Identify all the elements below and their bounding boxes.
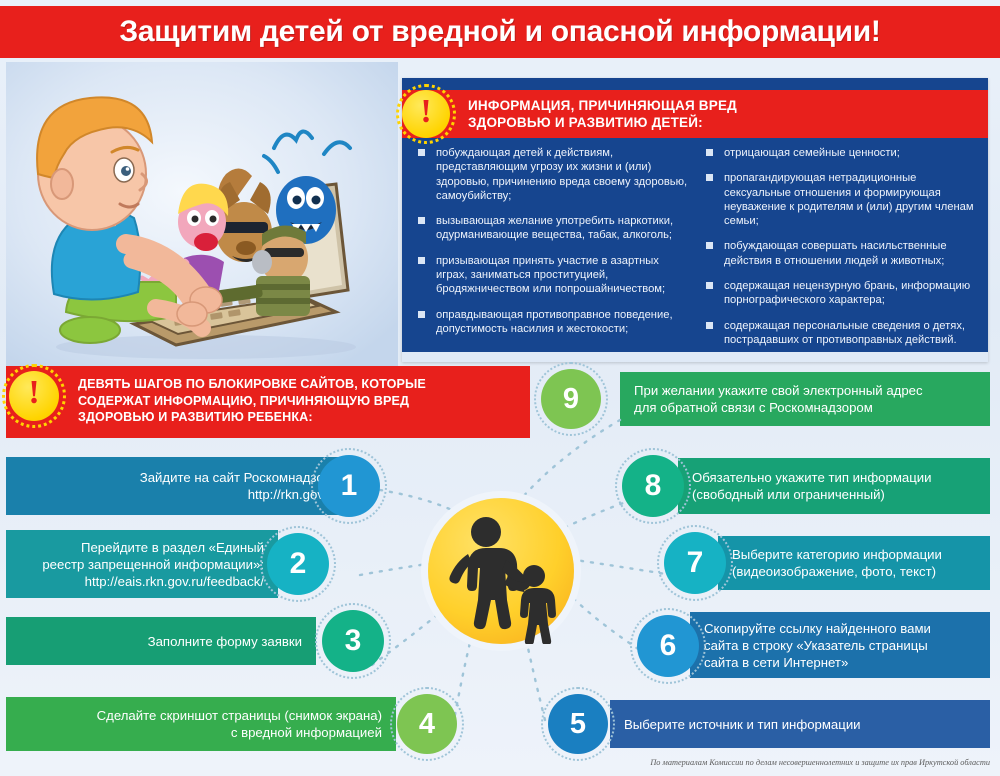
list-item: побуждающая детей к действиям, представл… <box>416 146 690 203</box>
step-5-number-circle[interactable]: 5 <box>548 694 608 754</box>
step-3-number: 3 <box>345 624 362 658</box>
step-2-number: 2 <box>290 547 307 581</box>
bullet-square-icon <box>706 149 713 156</box>
step-4-number-circle[interactable]: 4 <box>397 694 457 754</box>
harmful-info-heading-line1: ИНФОРМАЦИЯ, ПРИЧИНЯЮЩАЯ ВРЕД <box>468 97 980 114</box>
harmful-info-right-column: отрицающая семейные ценности; пропаганди… <box>704 146 978 346</box>
bullet-square-icon <box>706 282 713 289</box>
step-7-number: 7 <box>687 546 704 580</box>
step-4-number: 4 <box>419 708 435 741</box>
harmful-info-heading-line2: ЗДОРОВЬЮ И РАЗВИТИЮ ДЕТЕЙ: <box>468 114 980 131</box>
bullet-square-icon <box>418 257 425 264</box>
list-item: оправдывающая противоправное поведение, … <box>416 308 690 337</box>
list-item: содержащая нецензурную брань, информацию… <box>704 279 978 308</box>
list-item-text: побуждающая детей к действиям, представл… <box>436 147 687 202</box>
list-item: вызывающая желание употребить наркотики,… <box>416 214 690 243</box>
poster-root: Защитим детей от вредной и опасной инфор… <box>0 0 1000 776</box>
harmful-info-heading: ИНФОРМАЦИЯ, ПРИЧИНЯЮЩАЯ ВРЕД ЗДОРОВЬЮ И … <box>468 97 980 131</box>
step-1-number: 1 <box>341 469 358 503</box>
step-9-number: 9 <box>563 383 579 416</box>
adult-and-child-icon <box>428 498 574 644</box>
step-5-number: 5 <box>570 708 586 741</box>
list-item: пропагандирующая нетрадиционные сексуаль… <box>704 171 978 228</box>
harmful-info-left-column: побуждающая детей к действиям, представл… <box>416 146 690 346</box>
list-item: содержащая персональные сведения о детях… <box>704 319 978 348</box>
step-6-number: 6 <box>660 629 677 663</box>
step-6-number-circle[interactable]: 6 <box>637 615 699 677</box>
list-item: призывающая принять участие в азартных и… <box>416 254 690 297</box>
step-2-number-circle[interactable]: 2 <box>267 533 329 595</box>
harmful-info-columns: побуждающая детей к действиям, представл… <box>416 146 978 346</box>
illustration-svg <box>6 62 398 370</box>
list-item-text: призывающая принять участие в азартных и… <box>436 255 665 296</box>
list-item-text: отрицающая семейные ценности; <box>724 147 900 159</box>
harmful-info-panel: ИНФОРМАЦИЯ, ПРИЧИНЯЮЩАЯ ВРЕД ЗДОРОВЬЮ И … <box>402 78 988 362</box>
warning-badge-info: ! <box>396 84 456 144</box>
list-item-text: побуждающая совершать насильственные дей… <box>724 240 947 266</box>
step-9-number-circle[interactable]: 9 <box>541 369 601 429</box>
poster-title-bar: Защитим детей от вредной и опасной инфор… <box>0 6 1000 58</box>
list-item-text: содержащая нецензурную брань, информацию… <box>724 280 970 306</box>
step-8-number: 8 <box>645 469 662 503</box>
bullet-square-icon <box>706 322 713 329</box>
list-item-text: содержащая персональные сведения о детях… <box>724 320 965 346</box>
illustration-boy-at-laptop <box>6 62 398 370</box>
center-family-badge <box>428 498 574 644</box>
harmful-info-header: ИНФОРМАЦИЯ, ПРИЧИНЯЮЩАЯ ВРЕД ЗДОРОВЬЮ И … <box>402 90 988 138</box>
step-1-number-circle[interactable]: 1 <box>318 455 380 517</box>
step-8-number-circle[interactable]: 8 <box>622 455 684 517</box>
exclamation-icon: ! <box>2 368 66 418</box>
exclamation-icon: ! <box>396 88 456 136</box>
bullet-square-icon <box>418 149 425 156</box>
list-item-text: оправдывающая противоправное поведение, … <box>436 309 673 335</box>
bullet-square-icon <box>418 217 425 224</box>
warning-badge-steps: ! <box>2 364 66 428</box>
list-item-text: вызывающая желание употребить наркотики,… <box>436 215 673 241</box>
bullet-square-icon <box>706 242 713 249</box>
list-item: побуждающая совершать насильственные дей… <box>704 239 978 268</box>
bullet-square-icon <box>418 311 425 318</box>
list-item: отрицающая семейные ценности; <box>704 146 978 160</box>
page-title: Защитим детей от вредной и опасной инфор… <box>119 15 880 49</box>
list-item-text: пропагандирующая нетрадиционные сексуаль… <box>724 172 974 227</box>
step-3-number-circle[interactable]: 3 <box>322 610 384 672</box>
bullet-square-icon <box>706 174 713 181</box>
step-7-number-circle[interactable]: 7 <box>664 532 726 594</box>
